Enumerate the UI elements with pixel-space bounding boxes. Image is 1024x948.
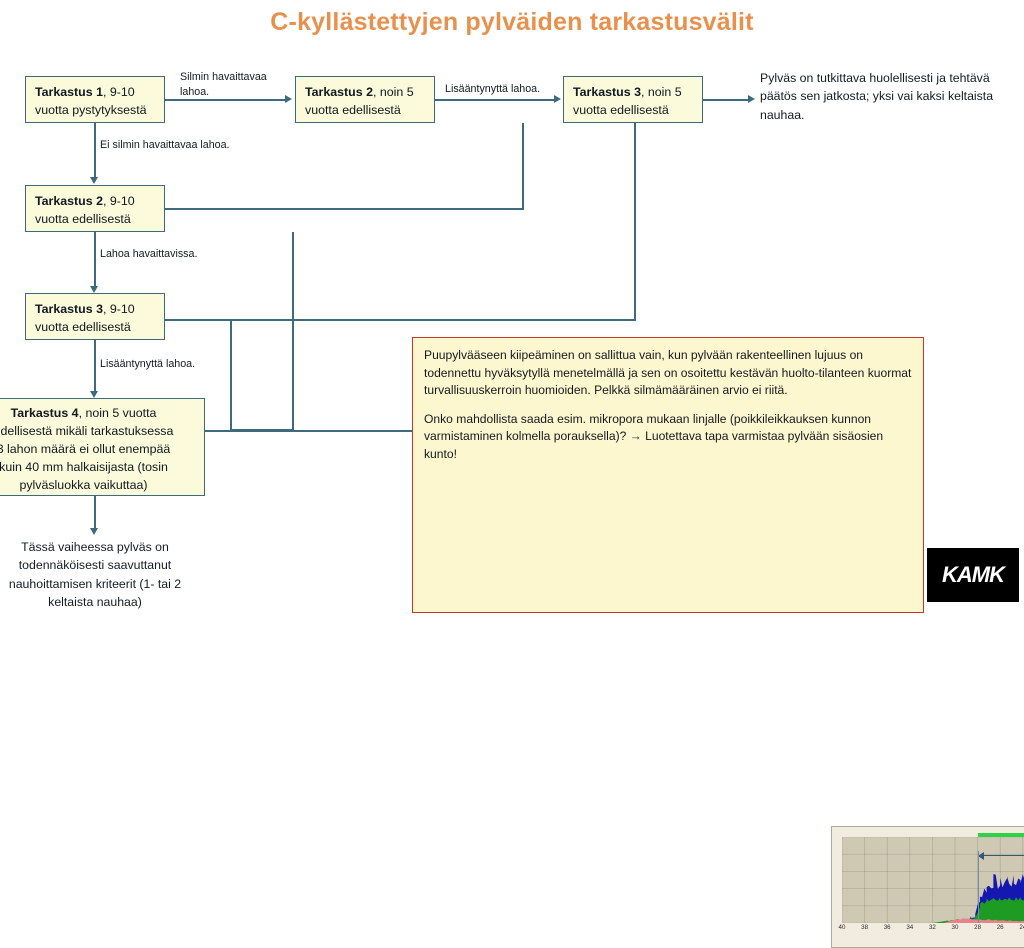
flow-box-tarkastus-2-top-strong: Tarkastus 2 [305, 85, 373, 99]
connector-t3top-to-outcome [703, 99, 750, 101]
flow-box-tarkastus-3-top-line1: Tarkastus 3, noin 5 [573, 84, 693, 102]
flow-box-tarkastus-4[interactable]: Tarkastus 4, noin 5 vuotta edellisestä m… [0, 398, 205, 496]
arrowhead-t4-to-bottom-outcome [90, 528, 98, 535]
edge-label-lahoa-havaittavissa: Lahoa havaittavissa. [100, 247, 240, 262]
chart-x-tick: 34 [906, 924, 913, 931]
flow-box-tarkastus-2-left-line1: Tarkastus 2, 9-10 [35, 193, 155, 211]
note-right-outcome: Pylväs on tutkittava huolellisesti ja te… [760, 69, 1010, 124]
flow-box-tarkastus-3-left-line1: Tarkastus 3, 9-10 [35, 301, 155, 319]
flow-box-tarkastus-2-left-strong: Tarkastus 2 [35, 194, 103, 208]
flow-box-tarkastus-3-top-strong: Tarkastus 3 [573, 85, 641, 99]
flow-box-tarkastus-4-strong: Tarkastus 4 [11, 406, 79, 420]
kamk-logo-text: KAMK [927, 548, 1019, 602]
flow-box-tarkastus-4-line3: 3 lahon määrä ei ollut enempää [0, 441, 195, 459]
arrowhead-t3left-to-t4 [90, 391, 98, 398]
arrowhead-t3top-to-outcome [748, 95, 755, 103]
flow-box-tarkastus-4-line5: pylväsluokka vaikuttaa) [0, 477, 195, 495]
flow-box-tarkastus-2-top-line2: vuotta edellisestä [305, 102, 425, 120]
connector-t4-vertical-riser [292, 232, 294, 432]
flow-box-tarkastus-3-top-rest: , noin 5 [641, 85, 682, 99]
arrowhead-t1-to-t2left [90, 177, 98, 184]
chart-zone-tick [978, 851, 979, 923]
chart-zone-bar [978, 833, 1024, 837]
drill-resistance-chart: pintapuusydänpuupintapuu 403836343230282… [831, 826, 1024, 948]
chart-x-tick: 26 [997, 924, 1004, 931]
edge-label-lisaantynytta-2: Lisääntynyttä lahoa. [100, 357, 240, 372]
chart-x-tick: 40 [839, 924, 846, 931]
edge-label-lisaantynytta-1: Lisääntynyttä lahoa. [445, 82, 560, 97]
chart-x-axis-label: [drilling depth (cm)] [832, 935, 1024, 942]
connector-aux-horizontal-a [230, 429, 292, 431]
chart-x-tick: 28 [974, 924, 981, 931]
flow-box-tarkastus-4-line1: Tarkastus 4, noin 5 vuotta [0, 405, 195, 423]
connector-t2left-right-run [165, 208, 524, 210]
arrowhead-t2left-to-t3left [90, 286, 98, 293]
connector-t2left-up-to-t2top [522, 123, 524, 210]
flow-box-tarkastus-3-left-line2: vuotta edellisestä [35, 319, 155, 337]
edge-label-ei-silmin-havaittavaa: Ei silmin havaittavaa lahoa. [100, 138, 230, 153]
flow-box-tarkastus-3-left[interactable]: Tarkastus 3, 9-10 vuotta edellisestä [25, 293, 165, 340]
chart-x-tick: 24 [1019, 924, 1024, 931]
chart-x-tick: 30 [952, 924, 959, 931]
flow-box-tarkastus-2-left[interactable]: Tarkastus 2, 9-10 vuotta edellisestä [25, 185, 165, 232]
flow-box-tarkastus-3-left-rest: , 9-10 [103, 302, 135, 316]
callout-panel[interactable]: Puupylvääseen kiipeäminen on sallittua v… [412, 337, 924, 613]
flow-box-tarkastus-2-top-rest: , noin 5 [373, 85, 414, 99]
flow-box-tarkastus-1-rest: , 9-10 [103, 85, 135, 99]
chart-x-tick: 32 [929, 924, 936, 931]
chart-x-tick: 36 [884, 924, 891, 931]
flow-box-tarkastus-2-top-line1: Tarkastus 2, noin 5 [305, 84, 425, 102]
chart-dimension-line [983, 855, 1024, 856]
connector-t4-to-bottom-outcome [94, 496, 96, 529]
callout-paragraph-2: Onko mahdollista saada esim. mikropora m… [424, 411, 912, 464]
connector-t3left-right-run [165, 319, 636, 321]
connector-aux-vertical-a [230, 319, 232, 430]
connector-t3left-to-t4 [94, 340, 96, 392]
flow-box-tarkastus-3-top[interactable]: Tarkastus 3, noin 5 vuotta edellisestä [563, 76, 703, 123]
flow-box-tarkastus-4-rest: , noin 5 vuotta [79, 406, 157, 420]
page-title: C-kyllästettyjen pylväiden tarkastusväli… [0, 8, 1024, 37]
edge-label-silmin-havaittavaa: Silmin havaittavaa lahoa. [180, 70, 290, 100]
flow-box-tarkastus-2-left-rest: , 9-10 [103, 194, 135, 208]
chart-plot-area [842, 837, 1024, 923]
connector-t2top-to-t3top [435, 99, 556, 101]
note-bottom-outcome: Tässä vaiheessa pylväs on todennäköisest… [0, 538, 190, 612]
flow-box-tarkastus-1-strong: Tarkastus 1 [35, 85, 103, 99]
connector-t3left-up-to-t3top [634, 123, 636, 321]
connector-t2left-to-t3left [94, 232, 96, 287]
flow-box-tarkastus-1-line2: vuotta pystytyksestä [35, 102, 155, 120]
callout-paragraph-1: Puupylvääseen kiipeäminen on sallittua v… [424, 347, 912, 400]
flow-box-tarkastus-4-line4: kuin 40 mm halkaisijasta (tosin [0, 459, 195, 477]
flow-box-tarkastus-3-top-line2: vuotta edellisestä [573, 102, 693, 120]
chart-svg [842, 837, 1024, 923]
flow-box-tarkastus-2-left-line2: vuotta edellisestä [35, 211, 155, 229]
flow-box-tarkastus-1[interactable]: Tarkastus 1, 9-10 vuotta pystytyksestä [25, 76, 165, 123]
flow-box-tarkastus-2-top[interactable]: Tarkastus 2, noin 5 vuotta edellisestä [295, 76, 435, 123]
chart-x-tick: 38 [861, 924, 868, 931]
slide-canvas: C-kyllästettyjen pylväiden tarkastusväli… [0, 0, 1024, 613]
flow-box-tarkastus-3-left-strong: Tarkastus 3 [35, 302, 103, 316]
chart-zone-label: pintapuu [978, 839, 1024, 849]
connector-t1-to-t2left [94, 123, 96, 178]
flow-box-tarkastus-4-line2: edellisestä mikäli tarkastuksessa [0, 423, 195, 441]
flow-box-tarkastus-1-line1: Tarkastus 1, 9-10 [35, 84, 155, 102]
kamk-logo: KAMK [927, 548, 1019, 602]
